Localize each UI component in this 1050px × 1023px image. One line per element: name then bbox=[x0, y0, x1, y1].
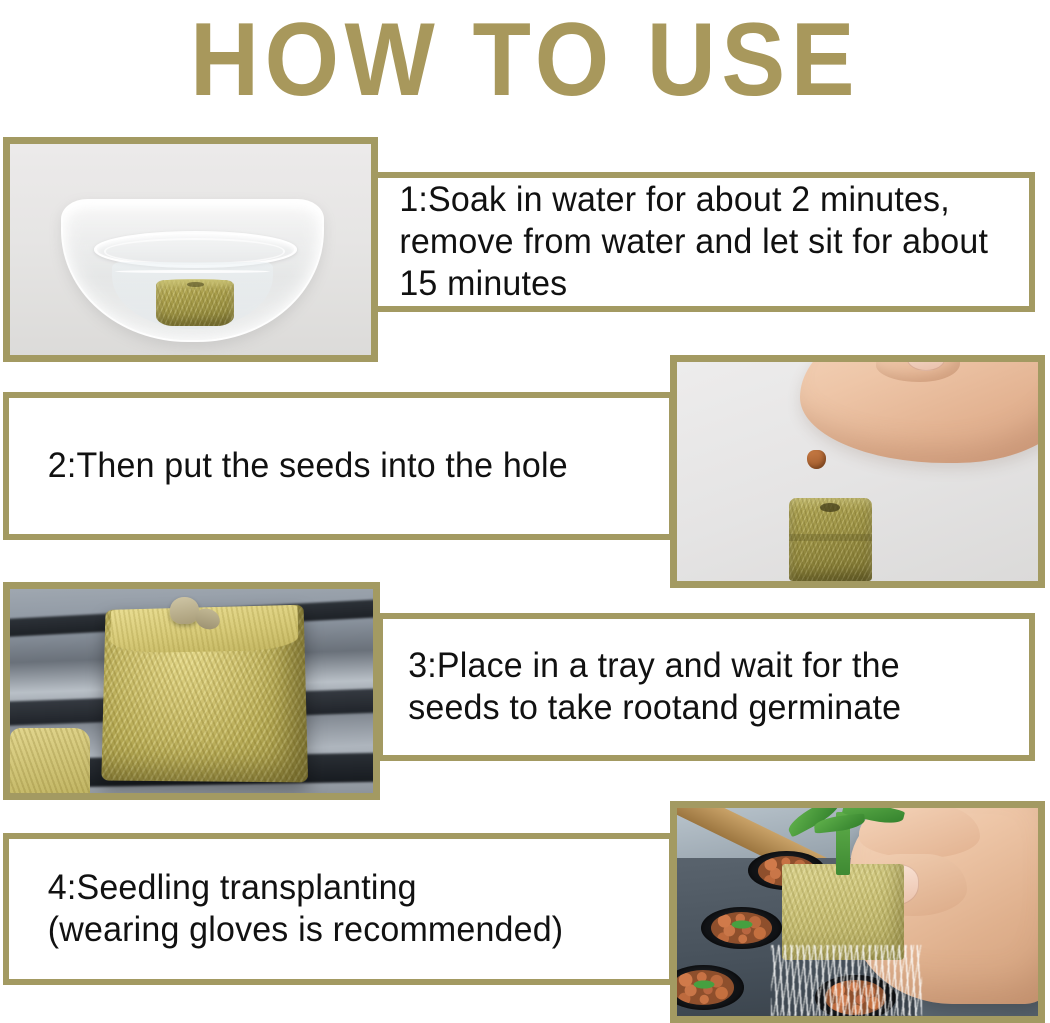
step-1-text: 1:Soak in water for about 2 minutes, rem… bbox=[378, 179, 1009, 305]
bowl-inner-rim bbox=[104, 238, 285, 264]
step-3-text: 3:Place in a tray and wait for the seeds… bbox=[383, 645, 1010, 729]
step-2-text: 2:Then put the seeds into the hole bbox=[9, 445, 577, 487]
step-3-text-box: 3:Place in a tray and wait for the seeds… bbox=[377, 613, 1035, 761]
white-roots bbox=[771, 945, 923, 1016]
rockwool-cube-hole bbox=[820, 503, 840, 512]
step-2-photo-image bbox=[677, 362, 1038, 581]
rockwool-cube bbox=[156, 280, 234, 326]
how-to-use-infographic: HOW TO USE 1:Soak in water for about 2 m… bbox=[0, 0, 1050, 1023]
adjacent-rockwool-cube bbox=[10, 728, 90, 793]
seed bbox=[807, 450, 826, 470]
net-pot bbox=[701, 907, 782, 949]
step-4-photo-image bbox=[677, 808, 1038, 1016]
rockwool-cube bbox=[789, 498, 872, 581]
small-seedling bbox=[728, 919, 756, 930]
rockwool-cube-hole bbox=[187, 282, 204, 287]
step-1-text-box: 1:Soak in water for about 2 minutes, rem… bbox=[372, 172, 1035, 312]
step-3-photo-image bbox=[10, 589, 373, 793]
step-2-text-box: 2:Then put the seeds into the hole bbox=[3, 392, 675, 540]
step-1-photo-image bbox=[10, 144, 371, 355]
step-4-text-box: 4:Seedling transplanting (wearing gloves… bbox=[3, 833, 675, 985]
step-4-text: 4:Seedling transplanting (wearing gloves… bbox=[9, 867, 573, 951]
rockwool-cube-seam bbox=[789, 534, 872, 541]
net-pot bbox=[677, 965, 744, 1010]
page-title: HOW TO USE bbox=[42, 4, 1008, 116]
small-seedling bbox=[690, 979, 718, 991]
rockwool-cube bbox=[101, 605, 308, 783]
step-3-photo bbox=[3, 582, 380, 800]
step-4-photo bbox=[670, 801, 1045, 1023]
step-1-photo bbox=[3, 137, 378, 362]
step-2-photo bbox=[670, 355, 1045, 588]
